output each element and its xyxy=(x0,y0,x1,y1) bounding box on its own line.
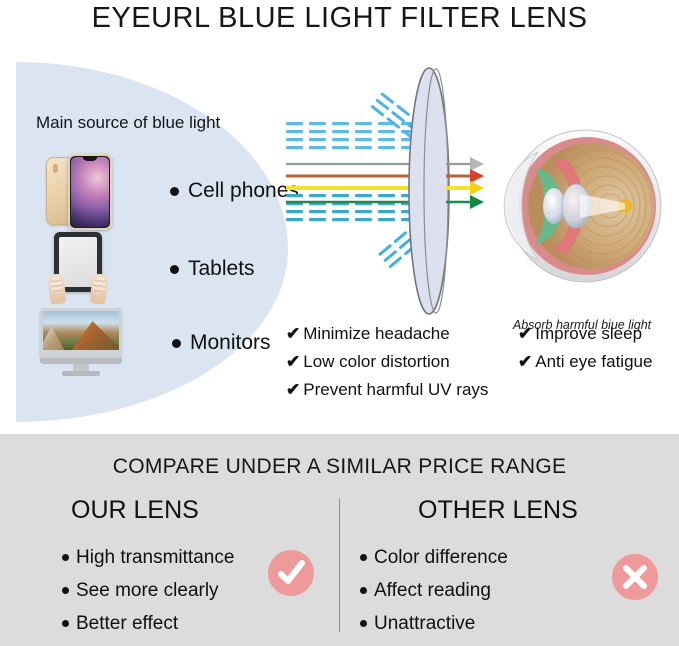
filter-lens-shape xyxy=(409,68,449,314)
list-item: Unattractive xyxy=(360,613,660,635)
gray-arrow-icon xyxy=(470,157,484,171)
infographic-page: EYEURL BLUE LIGHT FILTER LENS Main sourc… xyxy=(0,0,679,646)
bullet-dot-icon xyxy=(172,339,181,348)
phone-wallpaper xyxy=(71,157,109,227)
eye-anatomy-svg xyxy=(492,106,672,311)
yellow-arrow-icon xyxy=(470,181,484,195)
red-arrow-icon xyxy=(470,169,484,183)
bullet-dot-icon xyxy=(170,265,179,274)
compare-section: COMPARE UNDER A SIMILAR PRICE RANGE OUR … xyxy=(0,434,679,646)
cross-badge xyxy=(612,554,658,600)
outgoing-rays xyxy=(446,157,484,209)
benefit-item: ✔ Low color distortion xyxy=(286,352,516,372)
monitor-body xyxy=(40,308,122,358)
benefits-column-left: ✔ Minimize headache ✔ Low color distorti… xyxy=(286,324,516,408)
benefit-item: ✔ Minimize headache xyxy=(286,324,516,344)
bullet-dot-icon xyxy=(360,554,367,561)
other-lens-heading: OTHER LENS xyxy=(360,496,660,525)
source-row-tablets: Tablets xyxy=(42,232,255,306)
check-icon: ✔ xyxy=(518,325,532,342)
source-row-monitors: Monitors xyxy=(38,308,271,378)
benefit-item: ✔ Improve sleep xyxy=(518,324,678,344)
phone-front-icon xyxy=(68,154,112,230)
bullet-dot-icon xyxy=(170,187,179,196)
tablet-icon xyxy=(42,232,114,306)
monitor-screen-wallpaper xyxy=(43,311,119,350)
other-lens-list: Color difference Affect reading Unattrac… xyxy=(360,547,660,635)
source-text: Tablets xyxy=(188,257,255,281)
check-icon: ✔ xyxy=(286,353,300,370)
list-item: Better effect xyxy=(62,613,342,635)
list-item-text: Affect reading xyxy=(374,580,491,602)
check-icon: ✔ xyxy=(286,325,300,342)
list-item-text: See more clearly xyxy=(76,580,219,602)
benefit-text: Prevent harmful UV rays xyxy=(303,380,488,400)
our-lens-heading: OUR LENS xyxy=(62,496,342,525)
lens-ray-diagram xyxy=(286,66,486,316)
list-item-text: High transmittance xyxy=(76,547,234,569)
hand-left-icon xyxy=(47,273,66,305)
check-badge-icon xyxy=(276,558,306,588)
phone-camera-icon xyxy=(53,164,58,173)
bullet-dot-icon xyxy=(62,554,69,561)
list-item-text: Better effect xyxy=(76,613,178,635)
blue-panel-heading: Main source of blue light xyxy=(36,113,220,133)
hand-right-icon xyxy=(89,273,108,305)
lens-diagram-svg xyxy=(286,66,486,316)
bullet-dot-icon xyxy=(360,620,367,627)
check-badge xyxy=(268,550,314,596)
benefit-text: Low color distortion xyxy=(303,352,449,372)
desktop-monitor-icon xyxy=(38,308,124,378)
check-icon: ✔ xyxy=(518,353,532,370)
eye-anatomy-illustration: Absorb harmful biue light xyxy=(492,106,672,346)
bullet-dot-icon xyxy=(62,620,69,627)
smartphone-icon xyxy=(42,154,114,228)
benefit-text: Improve sleep xyxy=(535,324,642,344)
benefit-item: ✔ Anti eye fatigue xyxy=(518,352,678,372)
source-row-cell-phones: Cell phones xyxy=(42,154,299,228)
monitor-neck xyxy=(73,364,89,371)
page-title: EYEURL BLUE LIGHT FILTER LENS xyxy=(0,2,679,35)
list-item-text: Color difference xyxy=(374,547,508,569)
benefits-column-right: ✔ Improve sleep ✔ Anti eye fatigue xyxy=(518,324,678,380)
monitor-foot xyxy=(62,371,100,376)
source-text: Cell phones xyxy=(188,179,299,203)
benefit-text: Anti eye fatigue xyxy=(535,352,652,372)
top-section: Main source of blue light Cell phones xyxy=(0,46,679,434)
compare-title: COMPARE UNDER A SIMILAR PRICE RANGE xyxy=(0,455,679,479)
source-text: Monitors xyxy=(190,331,271,355)
blue-light-dashes-lower xyxy=(286,194,418,221)
bullet-dot-icon xyxy=(62,587,69,594)
source-label-cell-phones: Cell phones xyxy=(170,179,299,203)
bullet-dot-icon xyxy=(360,587,367,594)
source-label-monitors: Monitors xyxy=(172,331,271,355)
source-label-tablets: Tablets xyxy=(170,257,255,281)
benefit-text: Minimize headache xyxy=(303,324,449,344)
check-icon: ✔ xyxy=(286,381,300,398)
green-arrow-icon xyxy=(470,195,484,209)
cross-badge-icon xyxy=(620,562,650,592)
list-item-text: Unattractive xyxy=(374,613,475,635)
benefit-item: ✔ Prevent harmful UV rays xyxy=(286,380,516,400)
